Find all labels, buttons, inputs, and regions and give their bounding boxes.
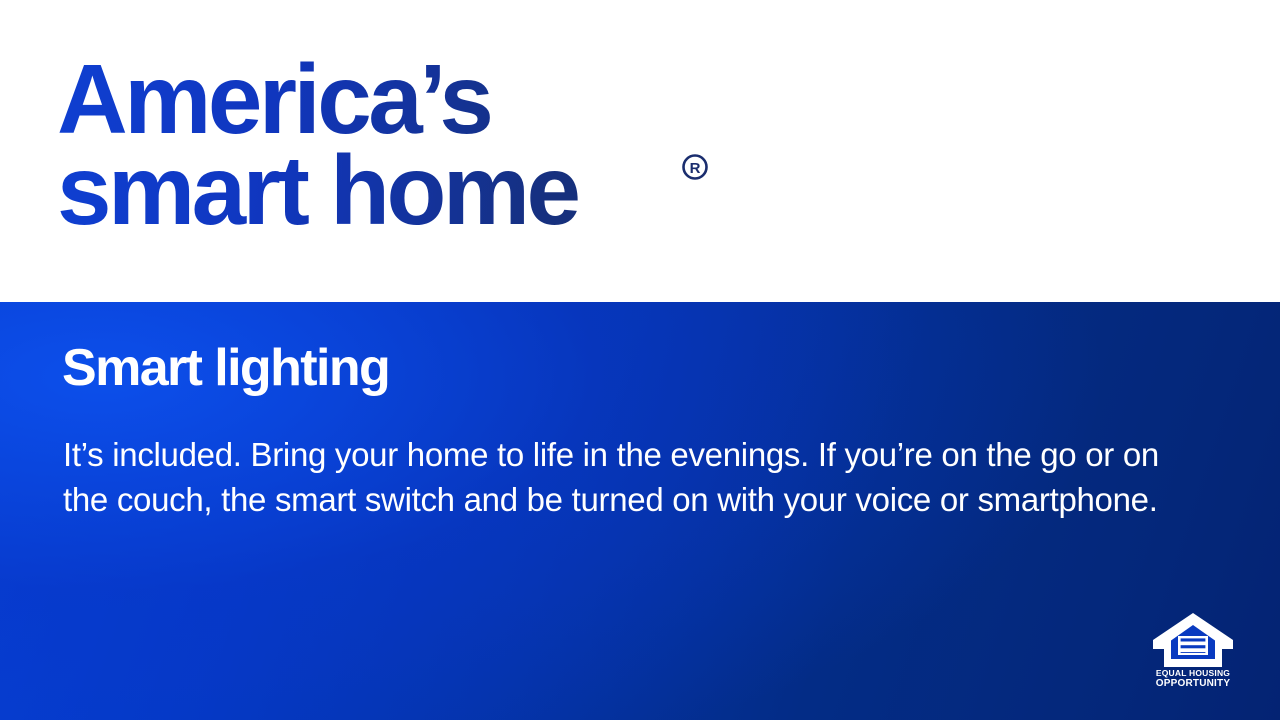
brand-logo-band: America’s smart home R — [0, 0, 1280, 302]
brand-logo-line-1: America’s — [57, 52, 737, 147]
svg-text:R: R — [690, 160, 701, 177]
content-panel: Smart lighting It’s included. Bring your… — [0, 302, 1280, 720]
slide-canvas: America’s smart home R Smart lighting It… — [0, 0, 1280, 720]
brand-logo-line-2: smart home — [57, 143, 737, 238]
panel-description: It’s included. Bring your home to life i… — [63, 432, 1173, 522]
equal-housing-caption-line-2: OPPORTUNITY — [1152, 679, 1234, 689]
page-title: Smart lighting — [62, 338, 389, 398]
equal-housing-opportunity-logo: EQUAL HOUSING OPPORTUNITY — [1152, 612, 1234, 692]
equal-housing-house-icon — [1152, 612, 1234, 668]
equal-housing-caption: EQUAL HOUSING OPPORTUNITY — [1152, 669, 1234, 688]
brand-logo: America’s smart home — [57, 52, 737, 238]
registered-trademark-icon: R — [681, 153, 709, 181]
